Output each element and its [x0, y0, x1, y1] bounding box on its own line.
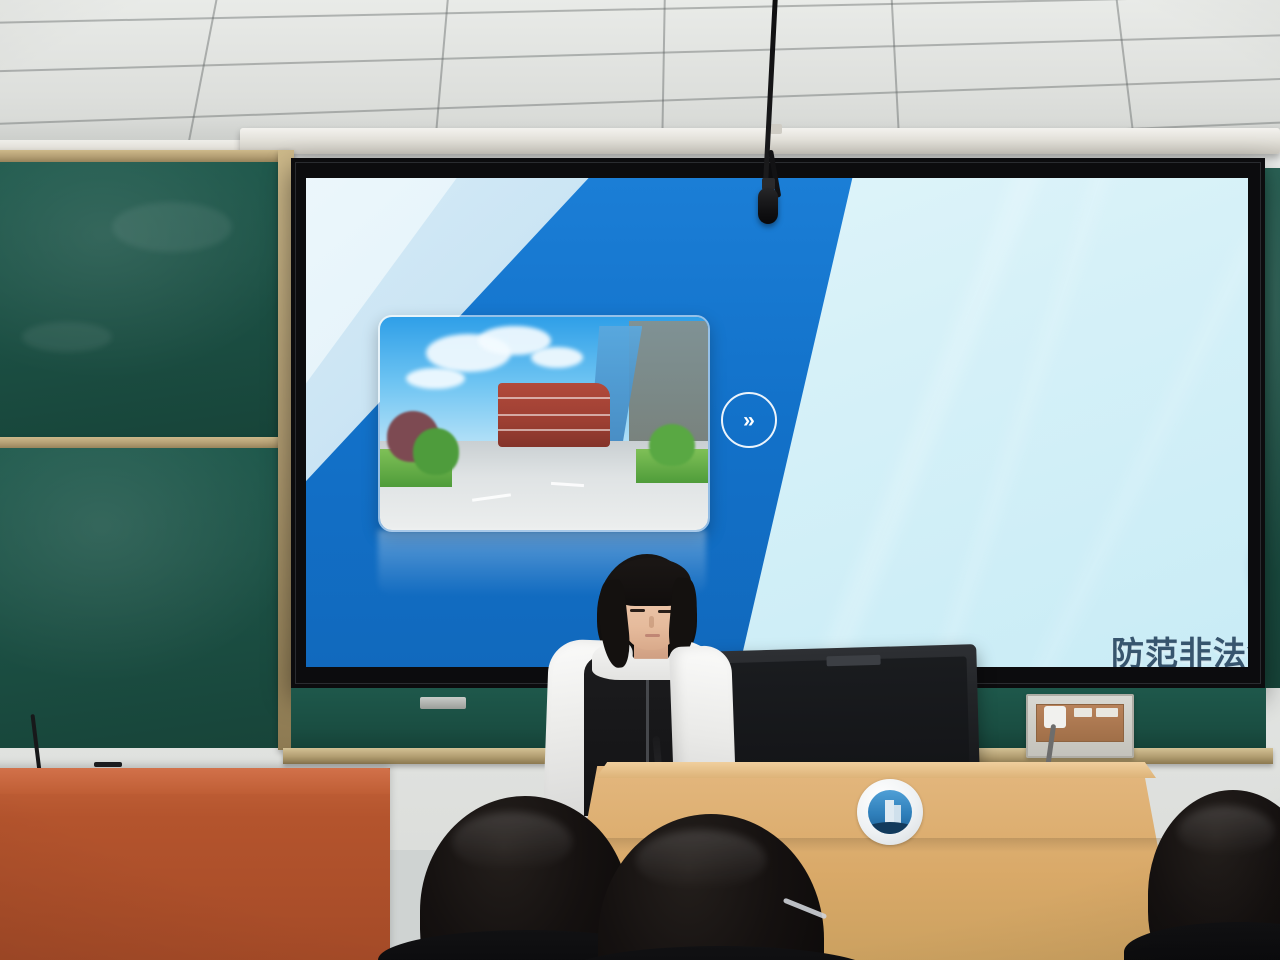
ceiling-microphone — [758, 188, 778, 224]
desk-pen[interactable] — [94, 762, 122, 767]
podium-monitor-rear[interactable] — [698, 644, 979, 780]
teacher-desk-top — [0, 768, 390, 794]
classroom-scene: » 三 防范非法金融活动，防 诈骗，防欺凌 — [0, 0, 1280, 960]
school-emblem-logo — [857, 779, 923, 845]
chalkboard-right-sliver — [1264, 168, 1280, 688]
campus-photo-thumbnail[interactable] — [378, 315, 710, 532]
roller-clip — [770, 124, 782, 134]
slide-title-line-1: 防范非法金融活动，防 — [1066, 633, 1248, 667]
chalkboard-lower-left — [0, 448, 280, 748]
presenter-eye-left — [630, 609, 645, 612]
wall-outlet-panel[interactable] — [1026, 694, 1134, 758]
chevron-right-icon: » — [743, 410, 755, 431]
teacher-desk — [0, 768, 390, 960]
chalkboard-upper-left — [0, 162, 284, 440]
next-chevron-button[interactable]: » — [721, 392, 777, 448]
monitor-label — [826, 655, 880, 667]
slide-title: 防范非法金融活动，防 诈骗，防欺凌 — [1066, 633, 1248, 667]
chalkboard-eraser[interactable] — [420, 697, 466, 709]
screen-roller-housing — [240, 128, 1280, 154]
presentation-slide[interactable]: » 三 防范非法金融活动，防 诈骗，防欺凌 — [306, 178, 1248, 667]
podium-top-edge — [596, 762, 1156, 778]
